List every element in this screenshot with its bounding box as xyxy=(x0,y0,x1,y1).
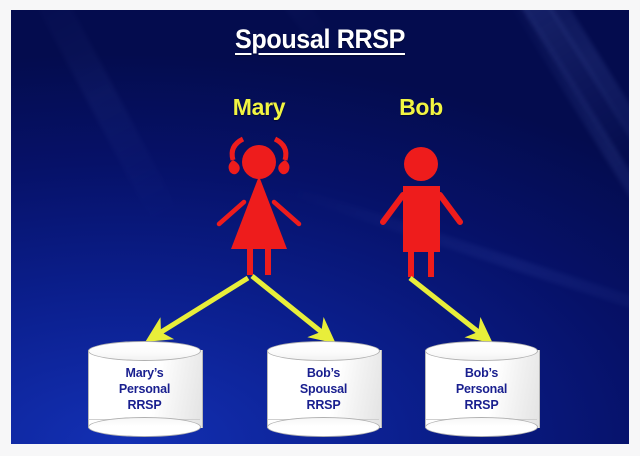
account-label-line3: RRSP xyxy=(267,397,380,413)
figure-mary xyxy=(219,139,299,275)
slide-frame: Spousal RRSP Mary Bob xyxy=(0,0,640,456)
person-label-mary: Mary xyxy=(189,94,329,121)
slide-canvas: Spousal RRSP Mary Bob xyxy=(11,10,629,444)
account-label-line2: Personal xyxy=(425,381,538,397)
account-label-line2: Personal xyxy=(88,381,201,397)
account-cylinder-mary-personal: Mary’s Personal RRSP xyxy=(88,341,201,437)
account-label-line1: Bob’s xyxy=(267,365,380,381)
account-label-line3: RRSP xyxy=(425,397,538,413)
account-cylinder-bob-spousal: Bob’s Spousal RRSP xyxy=(267,341,380,437)
flow-arrow-mary-to-bob-spousal xyxy=(252,276,324,334)
slide-title: Spousal RRSP xyxy=(33,24,608,55)
cylinder-top-ellipse xyxy=(267,341,380,361)
account-label-line1: Bob’s xyxy=(425,365,538,381)
cylinder-bottom-ellipse xyxy=(425,417,538,437)
account-label-line2: Spousal xyxy=(267,381,380,397)
background-streak xyxy=(496,10,629,339)
flow-arrow-mary-to-mary-personal xyxy=(158,278,248,334)
person-label-bob: Bob xyxy=(351,94,491,121)
cylinder-top-ellipse xyxy=(88,341,201,361)
account-label: Bob’s Spousal RRSP xyxy=(267,365,380,413)
account-label: Bob’s Personal RRSP xyxy=(425,365,538,413)
account-label: Mary’s Personal RRSP xyxy=(88,365,201,413)
figure-bob xyxy=(383,147,460,277)
flow-arrow-bob-to-bob-personal xyxy=(410,278,481,334)
account-label-line3: RRSP xyxy=(88,397,201,413)
background-streak xyxy=(272,180,629,352)
account-cylinder-bob-personal: Bob’s Personal RRSP xyxy=(425,341,538,437)
cylinder-bottom-ellipse xyxy=(88,417,201,437)
account-label-line1: Mary’s xyxy=(88,365,201,381)
cylinder-bottom-ellipse xyxy=(267,417,380,437)
cylinder-top-ellipse xyxy=(425,341,538,361)
